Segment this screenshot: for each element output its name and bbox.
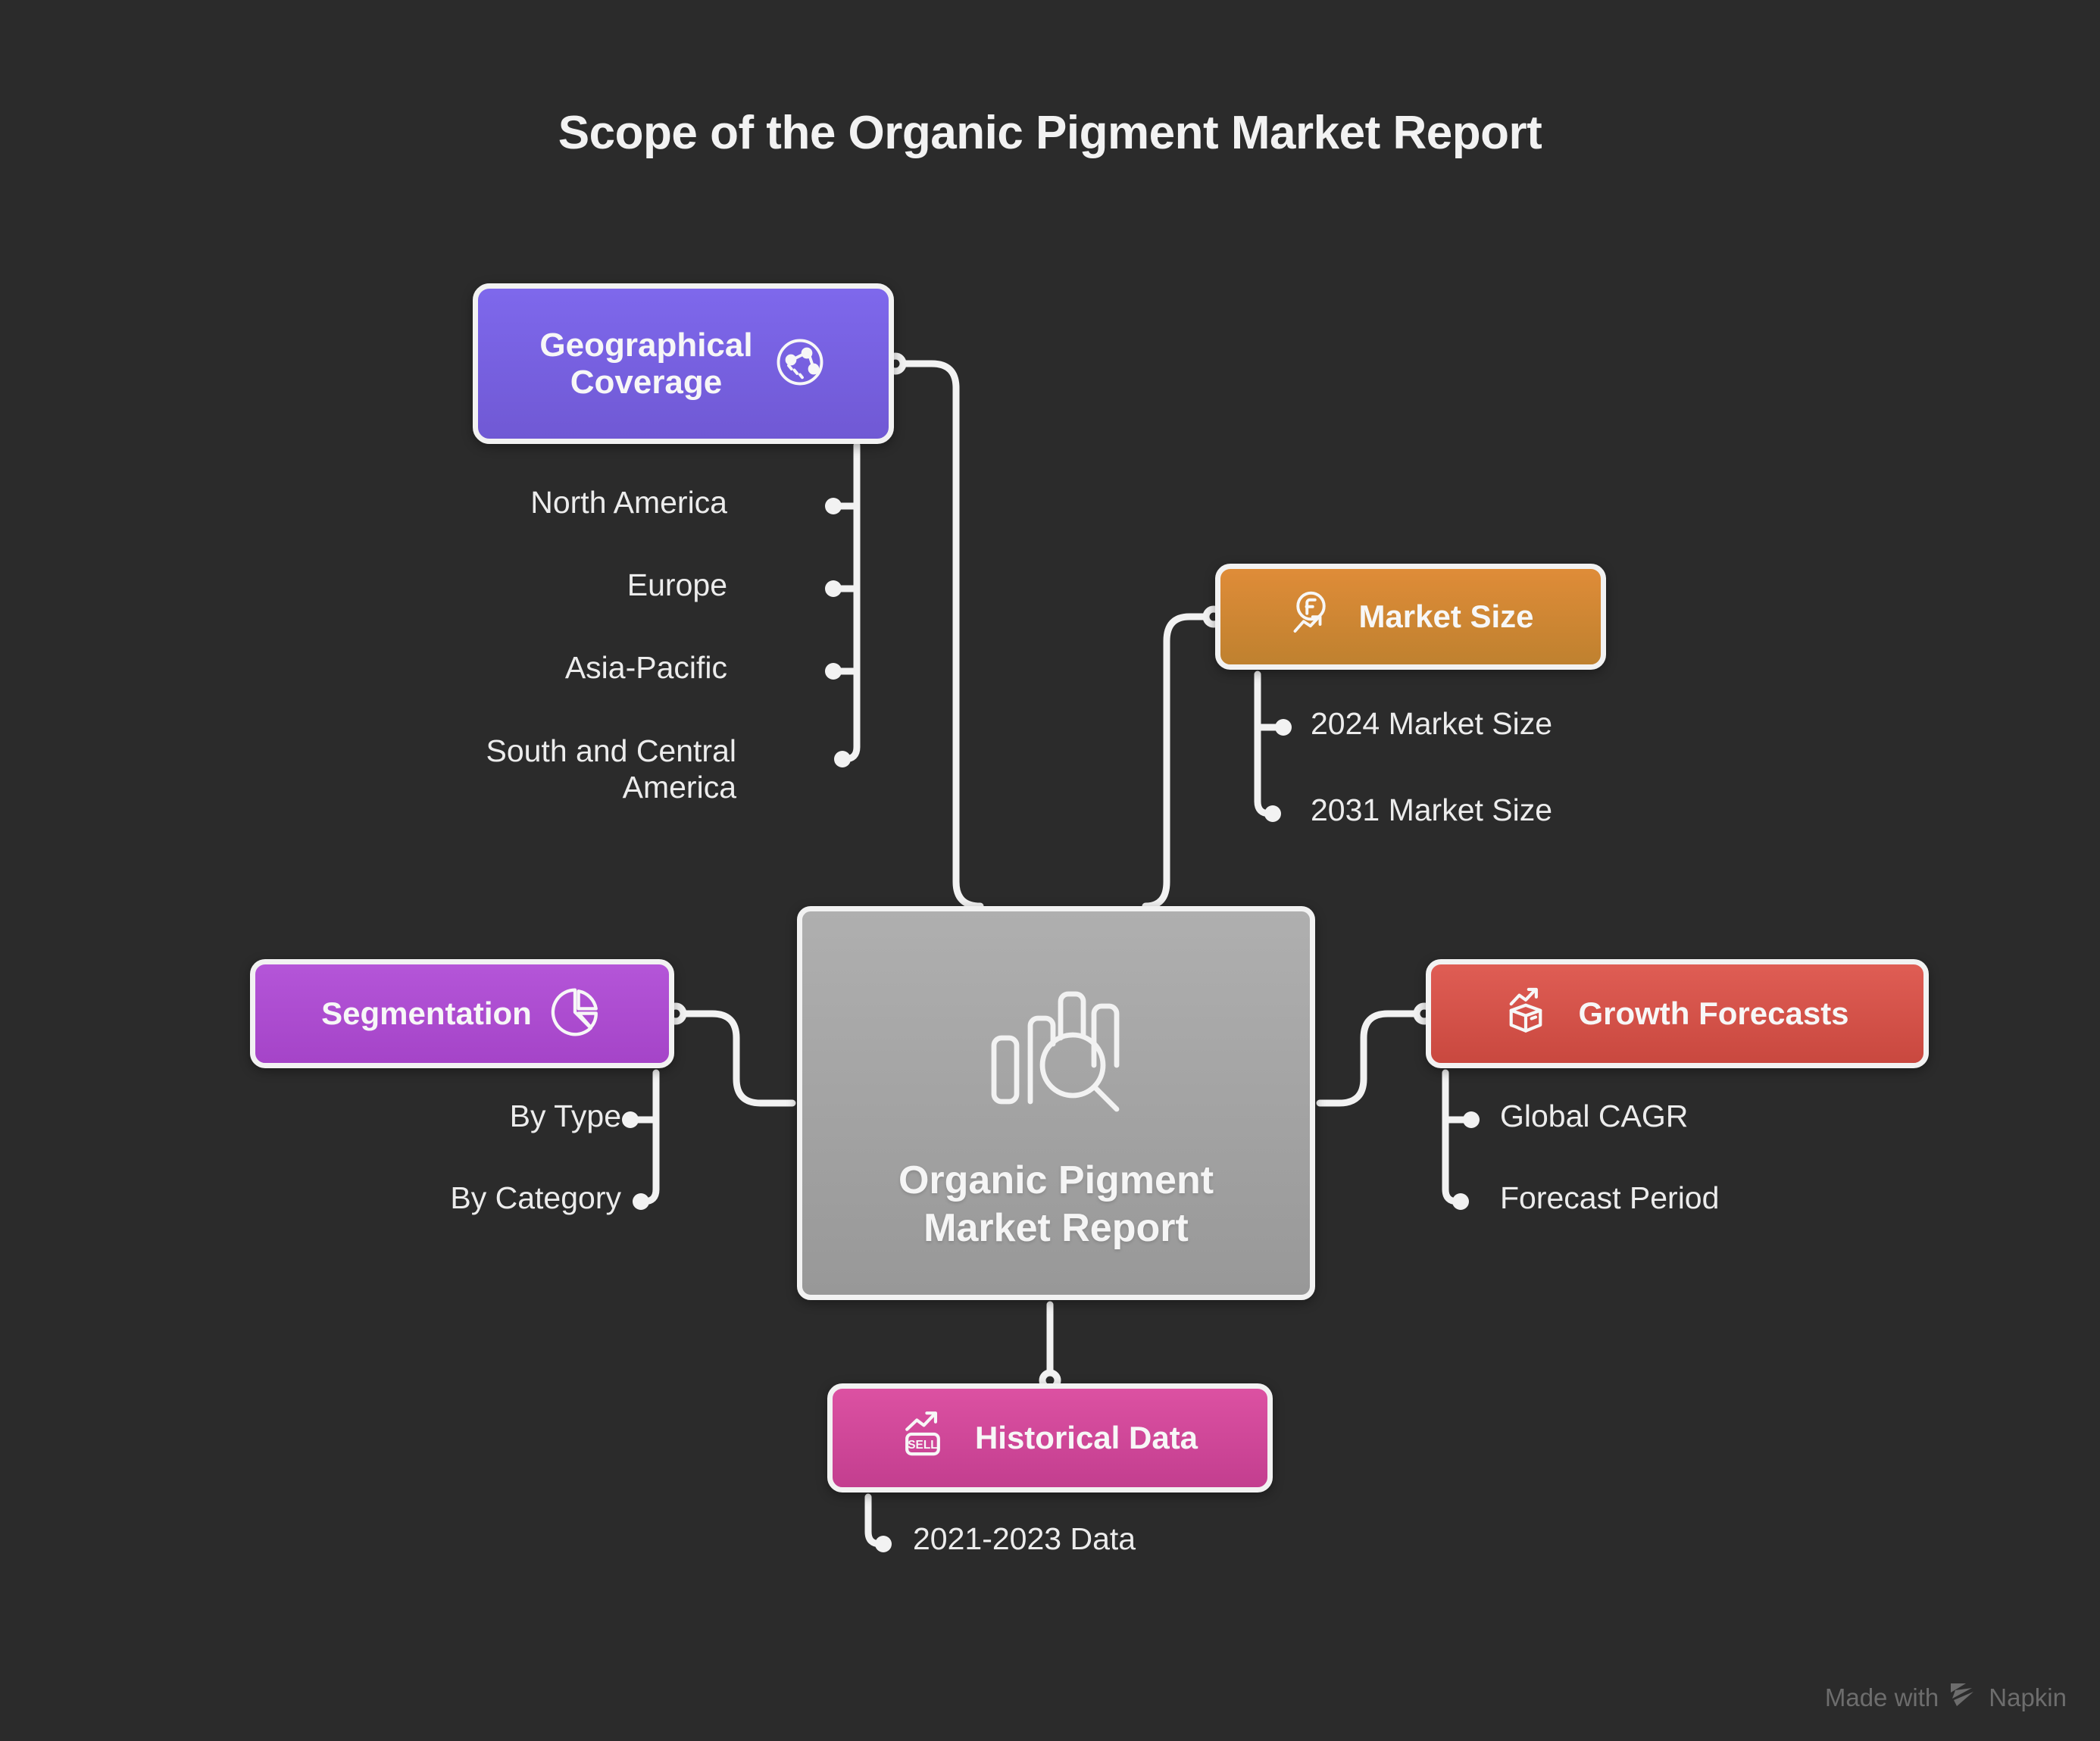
leaf-growth-forecasts-0: Global CAGR [1500,1099,1970,1135]
branch-label-geographical-coverage: Geographical Coverage [539,327,752,402]
center-node[interactable]: Organic Pigment Market Report [797,906,1315,1300]
wire-geo-to-center [898,364,980,906]
leaf-dot-geo-0 [825,498,842,514]
box-trending-up-icon [1505,984,1561,1044]
globe-network-icon [773,335,827,393]
leaf-geographical-coverage-2: Asia-Pacific [424,650,727,686]
leaf-historical-data-0: 2021-2023 Data [913,1521,1383,1558]
leaf-geographical-coverage-0: North America [424,485,727,521]
leaf-dot-size-1 [1264,805,1281,822]
wire-growth-to-center [1320,1014,1421,1103]
branch-node-growth-forecasts[interactable]: Growth Forecasts [1426,959,1929,1068]
leaf-market-size-1: 2031 Market Size [1311,792,1765,829]
napkin-logo-icon [1949,1682,1978,1714]
leaf-dot-geo-3 [834,751,851,767]
page-title: Scope of the Organic Pigment Market Repo… [0,106,2100,160]
leaf-dot-growth-1 [1452,1193,1469,1210]
branch-label-segmentation: Segmentation [321,996,532,1031]
watermark: Made with Napkin [1825,1682,2067,1714]
leaf-market-size-0: 2024 Market Size [1311,706,1765,742]
leaf-dot-seg-1 [633,1193,649,1210]
wire-geo-children-trunk [845,445,857,759]
leaf-growth-forecasts-1: Forecast Period [1500,1180,1970,1217]
center-node-label: Organic Pigment Market Report [898,1157,1214,1252]
leaf-dot-growth-0 [1463,1111,1480,1128]
leaf-dot-size-0 [1275,719,1292,736]
svg-text:SELL: SELL [908,1439,937,1452]
wire-seg-to-center [679,1014,792,1103]
watermark-brand: Napkin [1989,1683,2067,1712]
branch-node-geographical-coverage[interactable]: Geographical Coverage [473,283,894,444]
leaf-segmentation-0: By Type [303,1099,621,1135]
leaf-dot-geo-2 [825,663,842,680]
branch-label-market-size: Market Size [1358,599,1533,634]
wire-hist-children-trunk [868,1497,880,1544]
sell-trending-up-icon: SELL [902,1408,958,1468]
wire-size-children-trunk [1258,674,1270,814]
branch-node-market-size[interactable]: Market Size [1215,564,1606,670]
watermark-prefix: Made with [1825,1683,1939,1712]
branch-label-historical-data: Historical Data [975,1420,1198,1455]
branch-label-growth-forecasts: Growth Forecasts [1578,996,1848,1031]
leaf-geographical-coverage-1: Europe [424,567,727,604]
branch-node-historical-data[interactable]: SELL Historical Data [827,1383,1273,1493]
currency-growth-icon [1287,588,1342,646]
wire-size-to-center [1145,617,1211,906]
leaf-dot-geo-1 [825,580,842,597]
leaf-dot-seg-0 [622,1111,639,1128]
wire-growth-children-trunk [1445,1073,1458,1202]
wire-seg-children-trunk [644,1073,656,1202]
diagram-canvas: Scope of the Organic Pigment Market Repo… [0,0,2100,1741]
leaf-dot-hist-0 [875,1536,892,1552]
leaf-segmentation-1: By Category [258,1180,621,1217]
leaf-geographical-coverage-3: South and Central America [394,733,736,806]
branch-node-segmentation[interactable]: Segmentation [250,959,674,1068]
pie-chart-icon [547,984,603,1044]
bar-chart-search-icon [973,971,1139,1127]
